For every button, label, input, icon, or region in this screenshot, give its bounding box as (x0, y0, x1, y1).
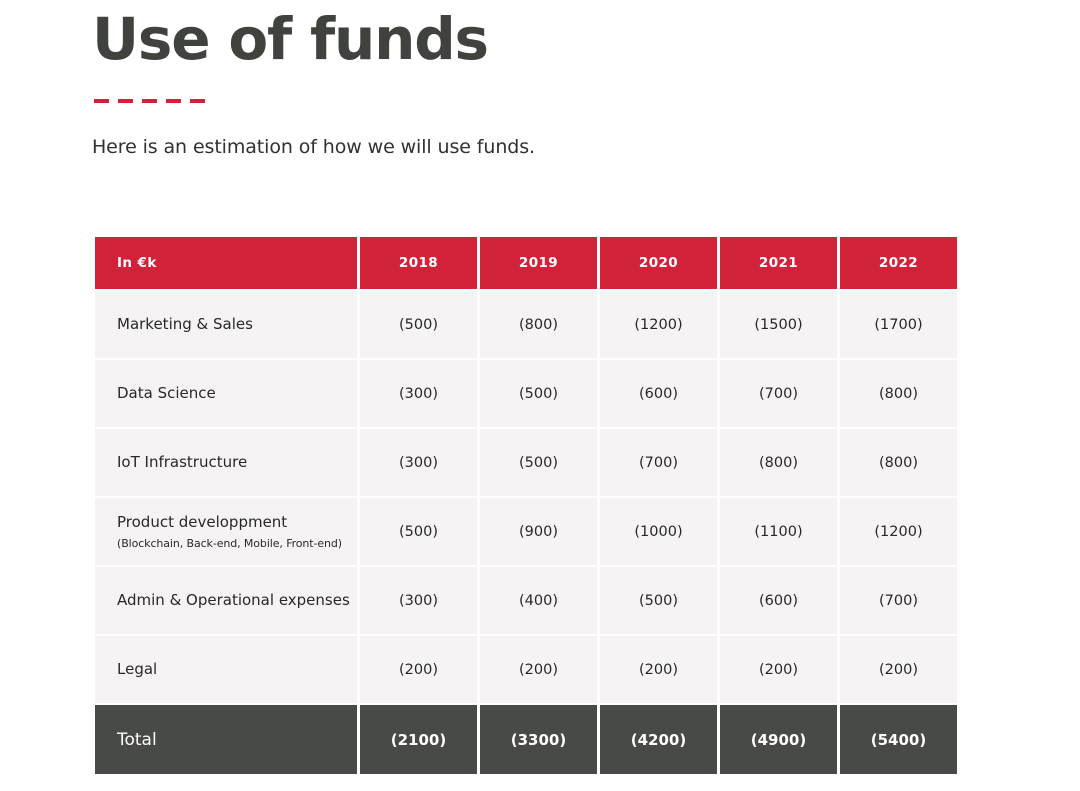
row-value-cell: (200) (840, 636, 957, 703)
table-row: Product developpment (Blockchain, Back-e… (95, 498, 957, 565)
divider-dash (118, 99, 133, 103)
slide-page: Use of funds Here is an estimation of ho… (0, 0, 1080, 791)
row-value-cell: (800) (480, 291, 597, 358)
row-value-cell: (400) (480, 567, 597, 634)
row-sublabel-text: (Blockchain, Back-end, Mobile, Front-end… (117, 537, 357, 551)
divider-dash (94, 99, 109, 103)
column-header-2018: 2018 (360, 237, 477, 289)
row-value-cell: (200) (720, 636, 837, 703)
row-value-cell: (1000) (600, 498, 717, 565)
row-value-cell: (500) (360, 291, 477, 358)
column-header-2020: 2020 (600, 237, 717, 289)
row-label-cell: Product developpment (Blockchain, Back-e… (95, 498, 357, 565)
row-value-cell: (700) (600, 429, 717, 496)
row-label-cell: Data Science (95, 360, 357, 427)
table-row: Admin & Operational expenses (300) (400)… (95, 567, 957, 634)
row-label-cell: IoT Infrastructure (95, 429, 357, 496)
divider-dash (190, 99, 205, 103)
row-value-cell: (700) (720, 360, 837, 427)
row-label-text: IoT Infrastructure (117, 453, 357, 472)
divider-dash (142, 99, 157, 103)
column-header-2021: 2021 (720, 237, 837, 289)
row-value-cell: (900) (480, 498, 597, 565)
row-value-cell: (300) (360, 567, 477, 634)
row-label-cell: Legal (95, 636, 357, 703)
row-label-cell: Marketing & Sales (95, 291, 357, 358)
row-value-cell: (200) (360, 636, 477, 703)
row-label-text: Legal (117, 660, 357, 679)
total-value-cell: (4900) (720, 705, 837, 774)
column-header-label: In €k (95, 237, 357, 289)
row-value-cell: (1200) (840, 498, 957, 565)
row-value-cell: (200) (480, 636, 597, 703)
row-label-text: Marketing & Sales (117, 315, 357, 334)
total-value-cell: (4200) (600, 705, 717, 774)
row-value-cell: (600) (600, 360, 717, 427)
heading-block: Use of funds Here is an estimation of ho… (92, 8, 992, 158)
row-value-cell: (800) (840, 360, 957, 427)
table-header-row: In €k 2018 2019 2020 2021 2022 (95, 237, 957, 289)
total-value-cell: (3300) (480, 705, 597, 774)
row-value-cell: (500) (360, 498, 477, 565)
row-label-text: Admin & Operational expenses (117, 591, 357, 610)
total-value-cell: (2100) (360, 705, 477, 774)
intro-paragraph: Here is an estimation of how we will use… (92, 136, 992, 158)
column-header-2019: 2019 (480, 237, 597, 289)
table-row: Data Science (300) (500) (600) (700) (80… (95, 360, 957, 427)
row-value-cell: (1500) (720, 291, 837, 358)
row-value-cell: (300) (360, 429, 477, 496)
total-value-cell: (5400) (840, 705, 957, 774)
column-header-2022: 2022 (840, 237, 957, 289)
row-value-cell: (800) (720, 429, 837, 496)
row-value-cell: (1100) (720, 498, 837, 565)
row-label-cell: Admin & Operational expenses (95, 567, 357, 634)
total-label-cell: Total (95, 705, 357, 774)
row-value-cell: (1200) (600, 291, 717, 358)
row-value-cell: (500) (480, 429, 597, 496)
table-row: IoT Infrastructure (300) (500) (700) (80… (95, 429, 957, 496)
row-value-cell: (700) (840, 567, 957, 634)
table-row: Marketing & Sales (500) (800) (1200) (15… (95, 291, 957, 358)
divider-dash (166, 99, 181, 103)
row-value-cell: (800) (840, 429, 957, 496)
row-value-cell: (500) (600, 567, 717, 634)
row-value-cell: (600) (720, 567, 837, 634)
row-value-cell: (200) (600, 636, 717, 703)
row-value-cell: (300) (360, 360, 477, 427)
table-total-row: Total (2100) (3300) (4200) (4900) (5400) (95, 705, 957, 774)
dashed-divider (94, 99, 992, 103)
row-label-text: Product developpment (117, 513, 357, 532)
use-of-funds-table: In €k 2018 2019 2020 2021 2022 Marketing… (92, 235, 960, 776)
row-label-text: Data Science (117, 384, 357, 403)
page-title: Use of funds (92, 8, 992, 71)
row-value-cell: (500) (480, 360, 597, 427)
table-row: Legal (200) (200) (200) (200) (200) (95, 636, 957, 703)
row-value-cell: (1700) (840, 291, 957, 358)
